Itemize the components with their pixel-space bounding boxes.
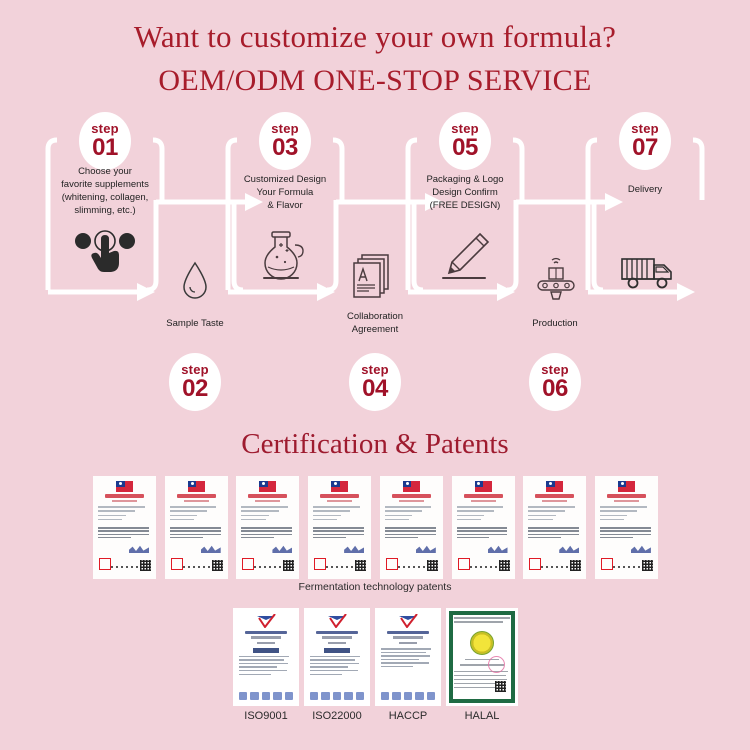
patents-caption: Fermentation technology patents (0, 581, 750, 593)
qr-code-icon (495, 681, 506, 692)
signature (559, 545, 579, 553)
step-badge-number: 01 (92, 136, 118, 160)
patent-certificate[interactable] (452, 476, 515, 579)
signature (344, 545, 364, 553)
certifier-logo-icon (326, 614, 348, 628)
taiwan-flag-icon (331, 481, 348, 492)
patent-certificate-row (93, 476, 658, 580)
patent-certificate[interactable] (595, 476, 658, 579)
patent-certificate[interactable] (93, 476, 156, 579)
step-badge-01[interactable]: step 01 (79, 112, 131, 170)
halal-stamp-icon (488, 656, 505, 673)
step-badge-07[interactable]: step 07 (619, 112, 671, 170)
qr-code-icon (642, 560, 653, 571)
certifier-logo-icon (255, 614, 277, 628)
step-badge-number: 02 (182, 377, 208, 401)
red-seal-icon (171, 558, 183, 570)
iso-certificate-row (233, 608, 518, 706)
patent-subtitle-line (399, 500, 424, 502)
patent-certificate[interactable] (236, 476, 299, 579)
step-text-05: Packaging & LogoDesign Confirm(FREE DESI… (410, 173, 520, 212)
iso-label-2: HACCP (375, 710, 441, 722)
certificate-iso22000[interactable] (304, 608, 370, 706)
patent-title-line (320, 494, 359, 498)
red-seal-icon (601, 558, 613, 570)
qr-code-icon (499, 560, 510, 571)
step-badge-number: 03 (272, 136, 298, 160)
qr-code-icon (283, 560, 294, 571)
patent-subtitle-line (614, 500, 639, 502)
signature (272, 545, 292, 553)
certificate-halal[interactable] (446, 608, 518, 706)
step-badge-03[interactable]: step 03 (259, 112, 311, 170)
patent-title-line (105, 494, 144, 498)
taiwan-flag-icon (259, 481, 276, 492)
red-seal-icon (529, 558, 541, 570)
step-text-07: Delivery (595, 183, 695, 196)
step-badge-number: 06 (542, 377, 568, 401)
qr-code-icon (570, 560, 581, 571)
signature (201, 545, 221, 553)
qr-code-icon (427, 560, 438, 571)
patent-title-line (392, 494, 431, 498)
iso-label-row: ISO9001 ISO22000 HACCP HALAL (233, 710, 518, 722)
step-text-04: CollaborationAgreement (325, 310, 425, 336)
taiwan-flag-icon (618, 481, 635, 492)
qr-code-icon (212, 560, 223, 571)
certificate-iso9001[interactable] (233, 608, 299, 706)
certificate-haccp[interactable] (375, 608, 441, 706)
patent-certificate[interactable] (165, 476, 228, 579)
patent-subtitle-line (112, 500, 137, 502)
signature (129, 545, 149, 553)
step-text-06: Production (505, 317, 605, 330)
patent-title-line (248, 494, 287, 498)
patent-title-line (464, 494, 503, 498)
patent-subtitle-line (184, 500, 209, 502)
taiwan-flag-icon (403, 481, 420, 492)
step-text-03: Customized DesignYour Formula& Flavor (230, 173, 340, 212)
red-seal-icon (99, 558, 111, 570)
patent-title-line (177, 494, 216, 498)
red-seal-icon (242, 558, 254, 570)
patent-certificate[interactable] (308, 476, 371, 579)
qr-code-icon (355, 560, 366, 571)
iso-label-0: ISO9001 (233, 710, 299, 722)
step-text-01: Choose yourfavorite supplements(whitenin… (45, 165, 165, 217)
step-badge-02[interactable]: step 02 (169, 353, 221, 411)
certifier-logo-icon (397, 614, 419, 628)
red-seal-icon (386, 558, 398, 570)
signature (631, 545, 651, 553)
patent-title-line (607, 494, 646, 498)
patent-certificate[interactable] (380, 476, 443, 579)
patent-title-line (535, 494, 574, 498)
iso-label-3: HALAL (446, 710, 518, 722)
signature (416, 545, 436, 553)
red-seal-icon (314, 558, 326, 570)
qr-code-icon (140, 560, 151, 571)
step-badge-06[interactable]: step 06 (529, 353, 581, 411)
step-badge-number: 05 (452, 136, 478, 160)
step-badge-number: 04 (362, 377, 388, 401)
signature (488, 545, 508, 553)
page-subtitle: OEM/ODM ONE-STOP SERVICE (0, 62, 750, 100)
taiwan-flag-icon (475, 481, 492, 492)
iso-label-1: ISO22000 (304, 710, 370, 722)
page-root: Want to customize your own formula? OEM/… (0, 0, 750, 750)
patent-certificate[interactable] (523, 476, 586, 579)
page-title: Want to customize your own formula? (0, 18, 750, 56)
taiwan-flag-icon (116, 481, 133, 492)
header-block: Want to customize your own formula? OEM/… (0, 18, 750, 100)
patent-subtitle-line (255, 500, 280, 502)
taiwan-flag-icon (188, 481, 205, 492)
step-text-02: Sample Taste (145, 317, 245, 330)
red-seal-icon (458, 558, 470, 570)
patent-subtitle-line (471, 500, 496, 502)
step-badge-number: 07 (632, 136, 658, 160)
patent-subtitle-line (542, 500, 567, 502)
patent-subtitle-line (327, 500, 352, 502)
certification-title: Certification & Patents (0, 428, 750, 461)
step-badge-04[interactable]: step 04 (349, 353, 401, 411)
halal-medallion-icon (470, 631, 494, 655)
process-flow-diagram: step 01 step 02 step 03 step 04 step 05 … (0, 105, 750, 415)
taiwan-flag-icon (546, 481, 563, 492)
step-badge-05[interactable]: step 05 (439, 112, 491, 170)
